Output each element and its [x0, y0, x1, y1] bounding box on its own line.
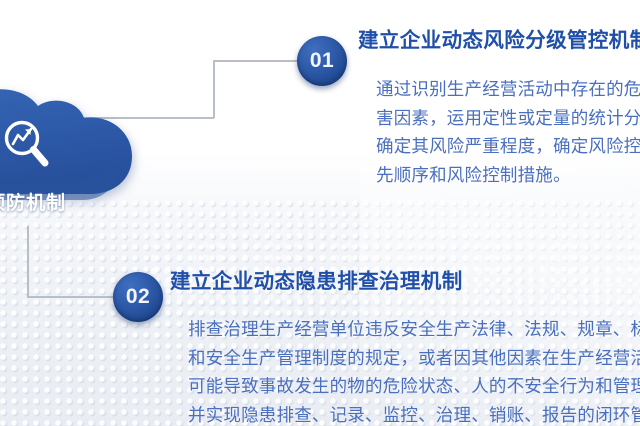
step-badge-01[interactable]: 01: [297, 36, 347, 86]
item-01-body-line: 通过识别生产经营活动中存在的危: [376, 75, 640, 104]
item-01-body: 通过识别生产经营活动中存在的危 害因素，运用定性或定量的统计分 确定其风险严重程…: [376, 75, 640, 189]
item-01-body-line: 害因素，运用定性或定量的统计分: [376, 104, 640, 133]
magnifier-chart-icon: [2, 118, 52, 170]
item-02-title: 建立企业动态隐患排查治理机制: [170, 264, 640, 294]
item-01-body-line: 确定其风险严重程度，确定风险控: [376, 132, 640, 161]
infographic-canvas: 预防机制 01 建立企业动态风险分级管控机制 通过识别生产经营活动中存在的危 害…: [0, 0, 640, 426]
item-01-title: 建立企业动态风险分级管控机制: [358, 23, 640, 53]
item-01-body-line: 先顺序和风险控制措施。: [376, 161, 640, 190]
item-02-body: 排查治理生产经营单位违反安全生产法律、法规、规章、标 和安全生产管理制度的规定，…: [188, 315, 640, 426]
item-02-block: 建立企业动态隐患排查治理机制 排查治理生产经营单位违反安全生产法律、法规、规章、…: [170, 264, 640, 426]
connector-line-01-vertical: [213, 61, 215, 118]
item-02-body-line: 排查治理生产经营单位违反安全生产法律、法规、规章、标: [188, 315, 640, 344]
item-02-body-line: 可能导致事故发生的物的危险状态、人的不安全行为和管理: [188, 372, 640, 401]
item-02-body-line: 和安全生产管理制度的规定，或者因其他因素在生产经营活: [188, 344, 640, 373]
step-badge-02[interactable]: 02: [113, 272, 163, 322]
item-02-body-line: 并实现隐患排查、记录、监控、治理、销账、报告的闭环管: [188, 401, 640, 426]
item-01-block: 建立企业动态风险分级管控机制 通过识别生产经营活动中存在的危 害因素，运用定性或…: [358, 23, 640, 189]
cloud-label: 预防机制: [0, 188, 106, 215]
